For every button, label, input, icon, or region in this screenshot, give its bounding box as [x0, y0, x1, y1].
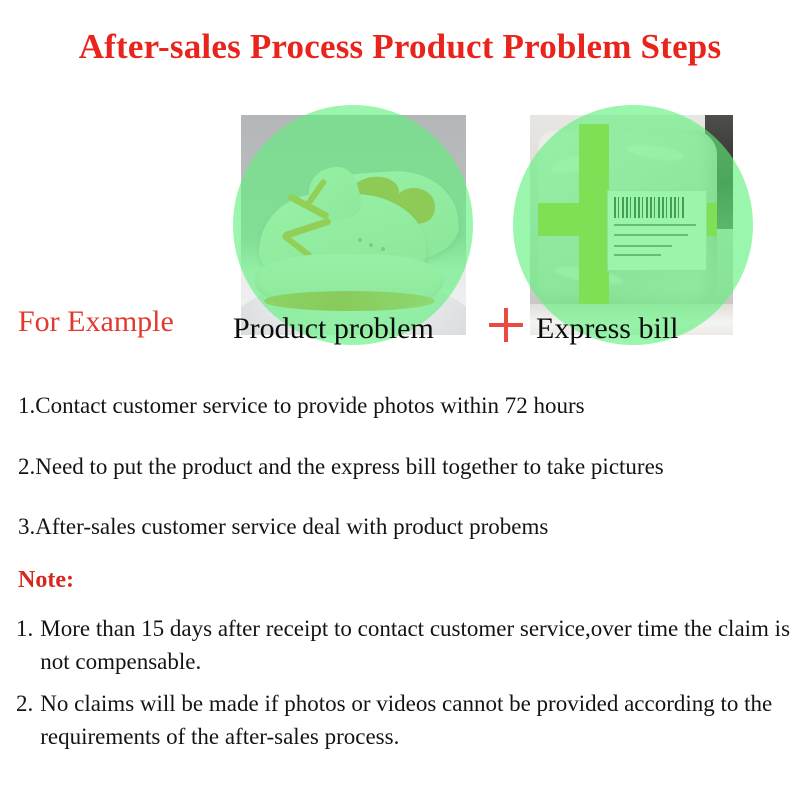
sneaker-eyelet — [381, 247, 385, 251]
label-text-line — [614, 254, 661, 256]
note-item-1-number: 1. — [16, 612, 40, 679]
label-text-line — [614, 224, 696, 226]
note-item-1: 1. More than 15 days after receipt to co… — [16, 612, 791, 679]
note-item-2: 2. No claims will be made if photos or v… — [16, 687, 791, 754]
step-item-3: 3.After-sales customer service deal with… — [18, 513, 788, 541]
label-text-line — [614, 245, 672, 247]
steps-list: 1.Contact customer service to provide ph… — [18, 392, 788, 574]
green-sneakers-photo — [241, 115, 466, 335]
sneaker-outsole-trim — [264, 291, 435, 311]
label-text-line — [614, 234, 688, 236]
plus-icon — [487, 306, 525, 344]
plus-icon-vertical-bar — [504, 308, 508, 342]
page-title: After-sales Process Product Problem Step… — [0, 27, 800, 67]
example-row: For Example Produ — [0, 100, 800, 350]
note-item-2-text: No claims will be made if photos or vide… — [40, 687, 791, 754]
sneaker-eyelet — [369, 243, 373, 247]
express-shipping-label — [607, 190, 706, 271]
step-item-2: 2.Need to put the product and the expres… — [18, 453, 788, 481]
note-item-1-text: More than 15 days after receipt to conta… — [40, 612, 791, 679]
note-list: 1. More than 15 days after receipt to co… — [16, 612, 791, 761]
wrapped-parcel-with-express-label-photo — [530, 115, 733, 335]
after-sales-process-infographic: After-sales Process Product Problem Step… — [0, 0, 800, 800]
step-item-1: 1.Contact customer service to provide ph… — [18, 392, 788, 420]
product-problem-photo-frame — [241, 115, 466, 335]
note-heading: Note: — [18, 567, 74, 594]
product-problem-caption: Product problem — [233, 312, 434, 346]
barcode — [614, 197, 684, 218]
express-bill-caption: Express bill — [536, 312, 679, 346]
express-bill-photo-frame — [530, 115, 733, 335]
note-item-2-number: 2. — [16, 687, 40, 754]
for-example-label: For Example — [18, 305, 174, 339]
